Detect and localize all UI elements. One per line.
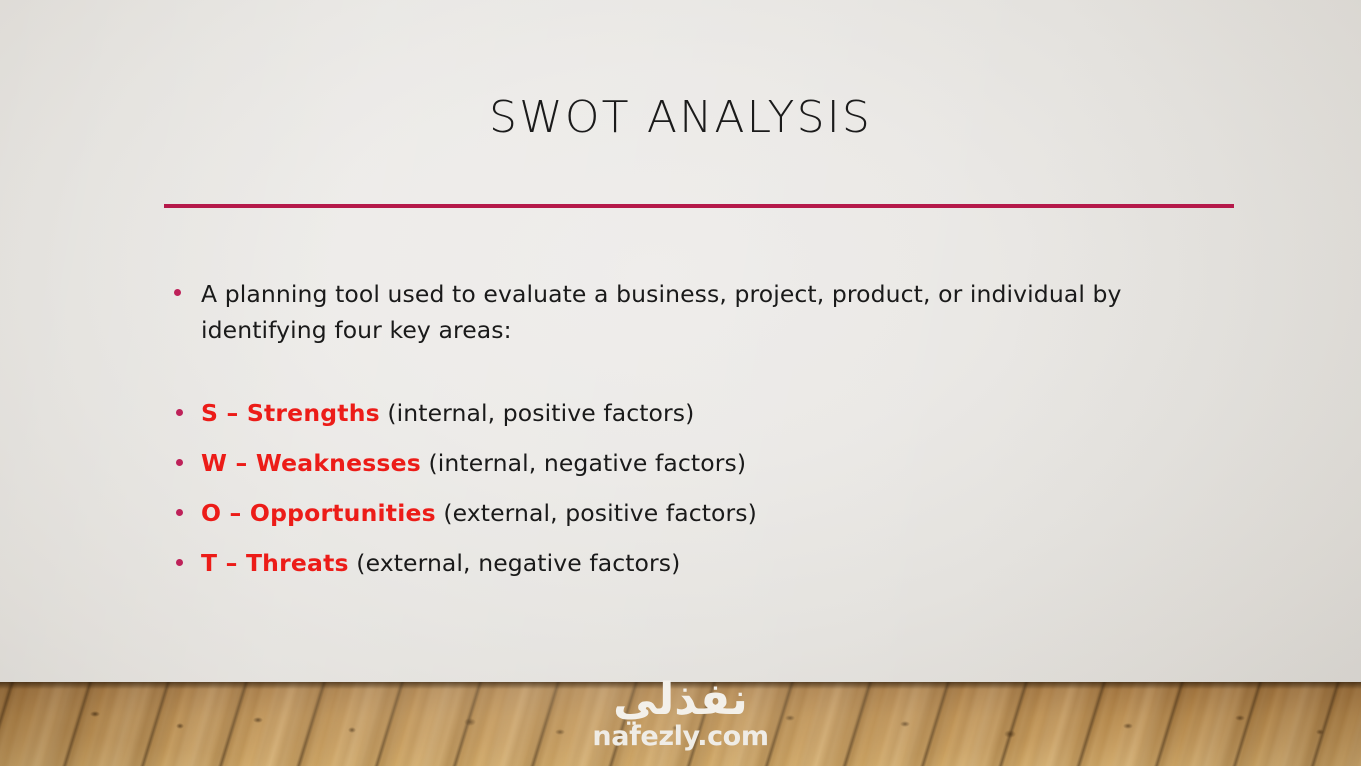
intro-bullet: A planning tool used to evaluate a busin… [164,276,1244,348]
list-item-strengths: S – Strengths (internal, positive factor… [164,394,1244,432]
bullet-dot-icon [174,289,181,296]
slide-body: A planning tool used to evaluate a busin… [164,276,1244,582]
list-item-text: W – Weaknesses (internal, negative facto… [201,444,746,482]
swot-key-label: O – Opportunities [201,499,436,527]
swot-note-label: (external, negative factors) [356,549,680,577]
list-item-weaknesses: W – Weaknesses (internal, negative facto… [164,444,1244,482]
swot-note-label: (external, positive factors) [443,499,757,527]
list-item-text: T – Threats (external, negative factors) [201,544,680,582]
intro-text: A planning tool used to evaluate a busin… [201,276,1211,348]
swot-note-label: (internal, negative factors) [429,449,747,477]
presentation-slide: SWOT ANALYSIS A planning tool used to ev… [0,0,1361,766]
bullet-dot-icon [176,559,183,566]
page-title: SWOT ANALYSIS [0,92,1361,143]
swot-note-label: (internal, positive factors) [387,399,694,427]
bullet-dot-icon [176,509,183,516]
swot-key-label: T – Threats [201,549,349,577]
swot-key-label: W – Weaknesses [201,449,421,477]
swot-list: S – Strengths (internal, positive factor… [164,394,1244,582]
title-divider-rule [164,204,1234,208]
bullet-dot-icon [176,459,183,466]
list-item-text: O – Opportunities (external, positive fa… [201,494,757,532]
swot-key-label: S – Strengths [201,399,380,427]
list-item-text: S – Strengths (internal, positive factor… [201,394,694,432]
wooden-floor [0,682,1361,766]
list-item-threats: T – Threats (external, negative factors) [164,544,1244,582]
list-item-opportunities: O – Opportunities (external, positive fa… [164,494,1244,532]
bullet-dot-icon [176,409,183,416]
floor-wood-grain [0,682,1361,766]
